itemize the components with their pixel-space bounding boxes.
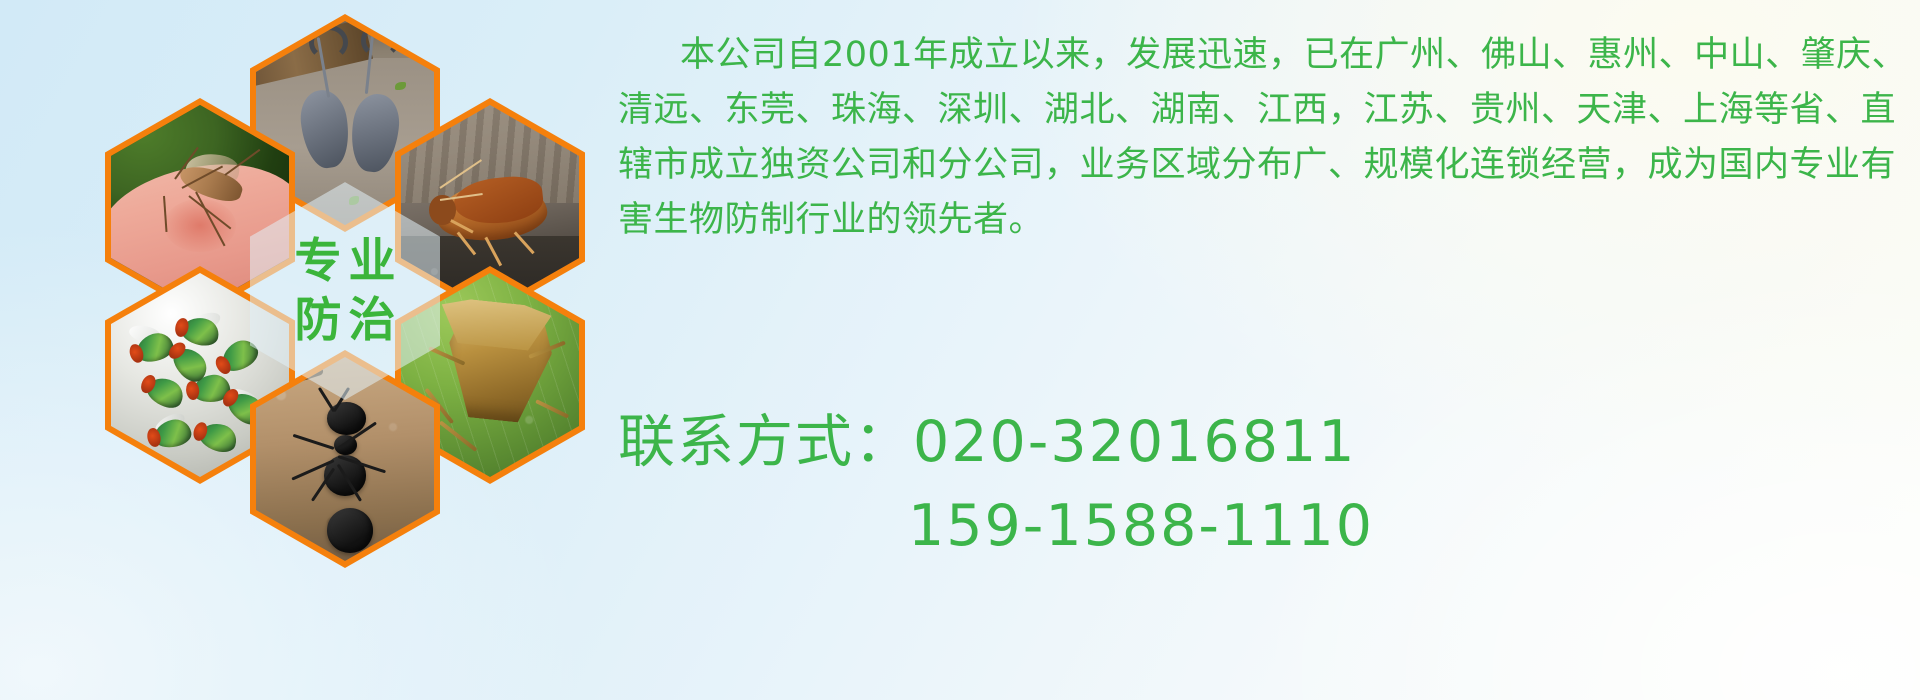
contact-line-secondary[interactable]: 159-1588-1110	[618, 484, 1908, 568]
pest-control-banner: 专业 防治	[0, 0, 1920, 700]
contact-line-primary[interactable]: 联系方式：020-32016811	[618, 400, 1908, 484]
slogan-line-1: 专业	[288, 238, 403, 285]
slogan-line-2: 防治	[288, 297, 403, 344]
company-description: 本公司自2001年成立以来，发展迅速，已在广州、佛山、惠州、中山、肇庆、清远、东…	[618, 28, 1908, 248]
description-paragraph: 本公司自2001年成立以来，发展迅速，已在广州、佛山、惠州、中山、肇庆、清远、东…	[618, 28, 1908, 248]
honeycomb-gallery: 专业 防治	[95, 8, 595, 573]
contact-block: 联系方式：020-32016811 159-1588-1110	[618, 400, 1908, 568]
